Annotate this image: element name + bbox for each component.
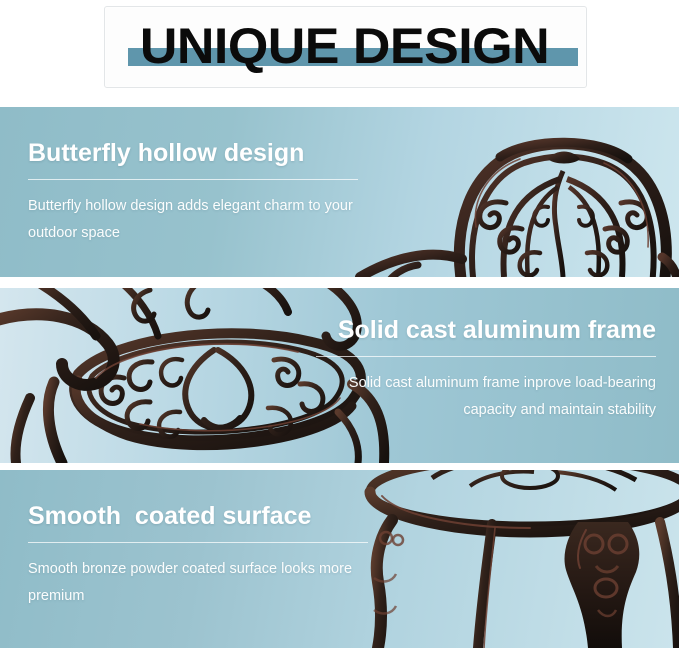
panel-2-body: Solid cast aluminum frame inprove load-b… (316, 370, 656, 424)
panel-2-heading: Solid cast aluminum frame (316, 316, 656, 345)
panel-3-heading: Smooth coated surface (28, 502, 368, 531)
panel-3-text-block: Smooth coated surface Smooth bronze powd… (28, 502, 368, 609)
feature-panel-smooth-coated-surface: Smooth coated surface Smooth bronze powd… (0, 470, 679, 648)
page-title: UNIQUE DESIGN (94, 6, 594, 86)
feature-panel-butterfly-hollow-design: Butterfly hollow design Butterfly hollow… (0, 107, 679, 277)
panel-1-text-block: Butterfly hollow design Butterfly hollow… (28, 139, 358, 246)
panel-3-divider (28, 542, 368, 543)
panel-2-divider (316, 356, 656, 357)
header-banner: UNIQUE DESIGN (0, 0, 679, 100)
panel-2-text-block: Solid cast aluminum frame Solid cast alu… (316, 316, 656, 423)
feature-panel-solid-cast-aluminum-frame: Solid cast aluminum frame Solid cast alu… (0, 288, 679, 463)
panel-1-divider (28, 179, 358, 180)
panel-3-body: Smooth bronze powder coated surface look… (28, 556, 368, 610)
infographic-page: UNIQUE DESIGN (0, 0, 679, 648)
panel-1-body: Butterfly hollow design adds elegant cha… (28, 193, 358, 247)
panel-1-heading: Butterfly hollow design (28, 139, 358, 168)
